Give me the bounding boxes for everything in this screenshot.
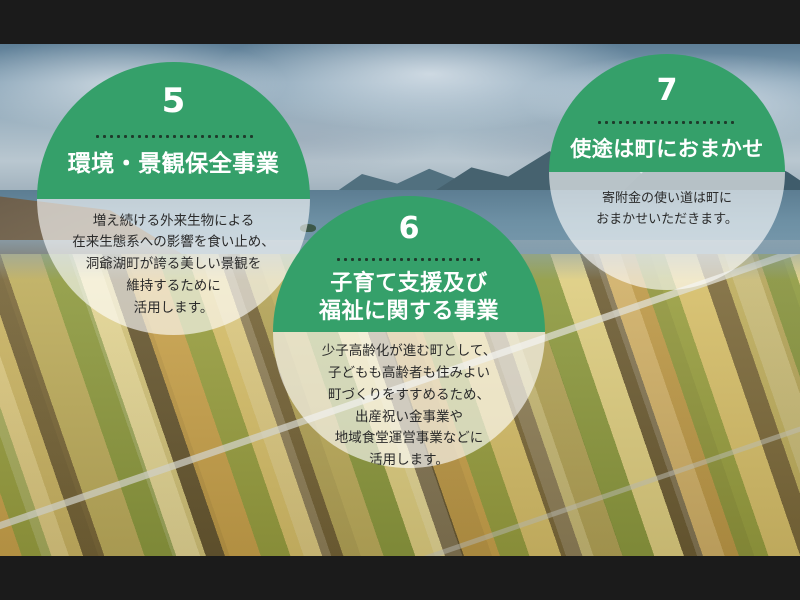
circle-7-title: 使途は町におまかせ	[570, 136, 764, 162]
body-line: 活用します。	[295, 450, 523, 468]
body-line: 増え続ける外来生物による	[59, 211, 289, 233]
body-line: 在来生態系への影響を食い止め、	[59, 232, 289, 254]
circle-6-number: 6	[399, 214, 420, 244]
body-line: おまかせいただきます。	[569, 209, 765, 230]
title-line: 福祉に関する事業	[319, 298, 499, 326]
dotted-divider-icon	[94, 134, 254, 139]
letterbox-bar-top	[0, 0, 800, 44]
dotted-divider-icon	[596, 120, 738, 125]
body-line: 維持するために	[59, 276, 289, 298]
info-circle-5: 5 環境・景観保全事業 増え続ける外来生物による 在来生態系への影響を食い止め、…	[37, 62, 310, 335]
circle-6-header: 6 子育て支援及び 福祉に関する事業	[273, 196, 545, 332]
circle-5-number: 5	[162, 84, 186, 118]
circle-7-number: 7	[657, 76, 678, 106]
circle-5-body-text: 増え続ける外来生物による 在来生態系への影響を食い止め、 洞爺湖町が誇る美しい景…	[59, 211, 289, 320]
circle-7-body-panel: 寄附金の使い道は町に おまかせいただきます。	[549, 172, 785, 290]
title-line: 子育て支援及び	[319, 270, 499, 298]
info-circle-6: 6 子育て支援及び 福祉に関する事業 少子高齢化が進む町として、 子どもも高齢者…	[273, 196, 545, 468]
body-line: 洞爺湖町が誇る美しい景観を	[59, 254, 289, 276]
body-line: 少子高齢化が進む町として、	[295, 341, 523, 363]
circle-5-body-panel: 増え続ける外来生物による 在来生態系への影響を食い止め、 洞爺湖町が誇る美しい景…	[37, 199, 310, 336]
body-line: 子どもも高齢者も住みよい	[295, 363, 523, 385]
body-line: 地域食堂運営事業などに	[295, 428, 523, 450]
body-line: 活用します。	[59, 298, 289, 320]
body-line: 寄附金の使い道は町に	[569, 188, 765, 209]
circle-6-body-text: 少子高齢化が進む町として、 子どもも高齢者も住みよい 町づくりをすすめるため、 …	[295, 341, 523, 468]
slide-canvas: 5 環境・景観保全事業 増え続ける外来生物による 在来生態系への影響を食い止め、…	[0, 0, 800, 600]
circle-7-body-text: 寄附金の使い道は町に おまかせいただきます。	[569, 188, 765, 230]
circle-6-body-panel: 少子高齢化が進む町として、 子どもも高齢者も住みよい 町づくりをすすめるため、 …	[273, 332, 545, 468]
circle-5-header: 5 環境・景観保全事業	[37, 62, 310, 199]
letterbox-bar-bottom	[0, 556, 800, 600]
info-circle-7: 7 使途は町におまかせ 寄附金の使い道は町に おまかせいただきます。	[549, 54, 785, 290]
circle-7-header: 7 使途は町におまかせ	[549, 54, 785, 172]
body-line: 出産祝い金事業や	[295, 407, 523, 429]
circle-6-title: 子育て支援及び 福祉に関する事業	[319, 270, 499, 325]
circle-5-title: 環境・景観保全事業	[68, 150, 280, 179]
dotted-divider-icon	[335, 257, 483, 262]
body-line: 町づくりをすすめるため、	[295, 385, 523, 407]
